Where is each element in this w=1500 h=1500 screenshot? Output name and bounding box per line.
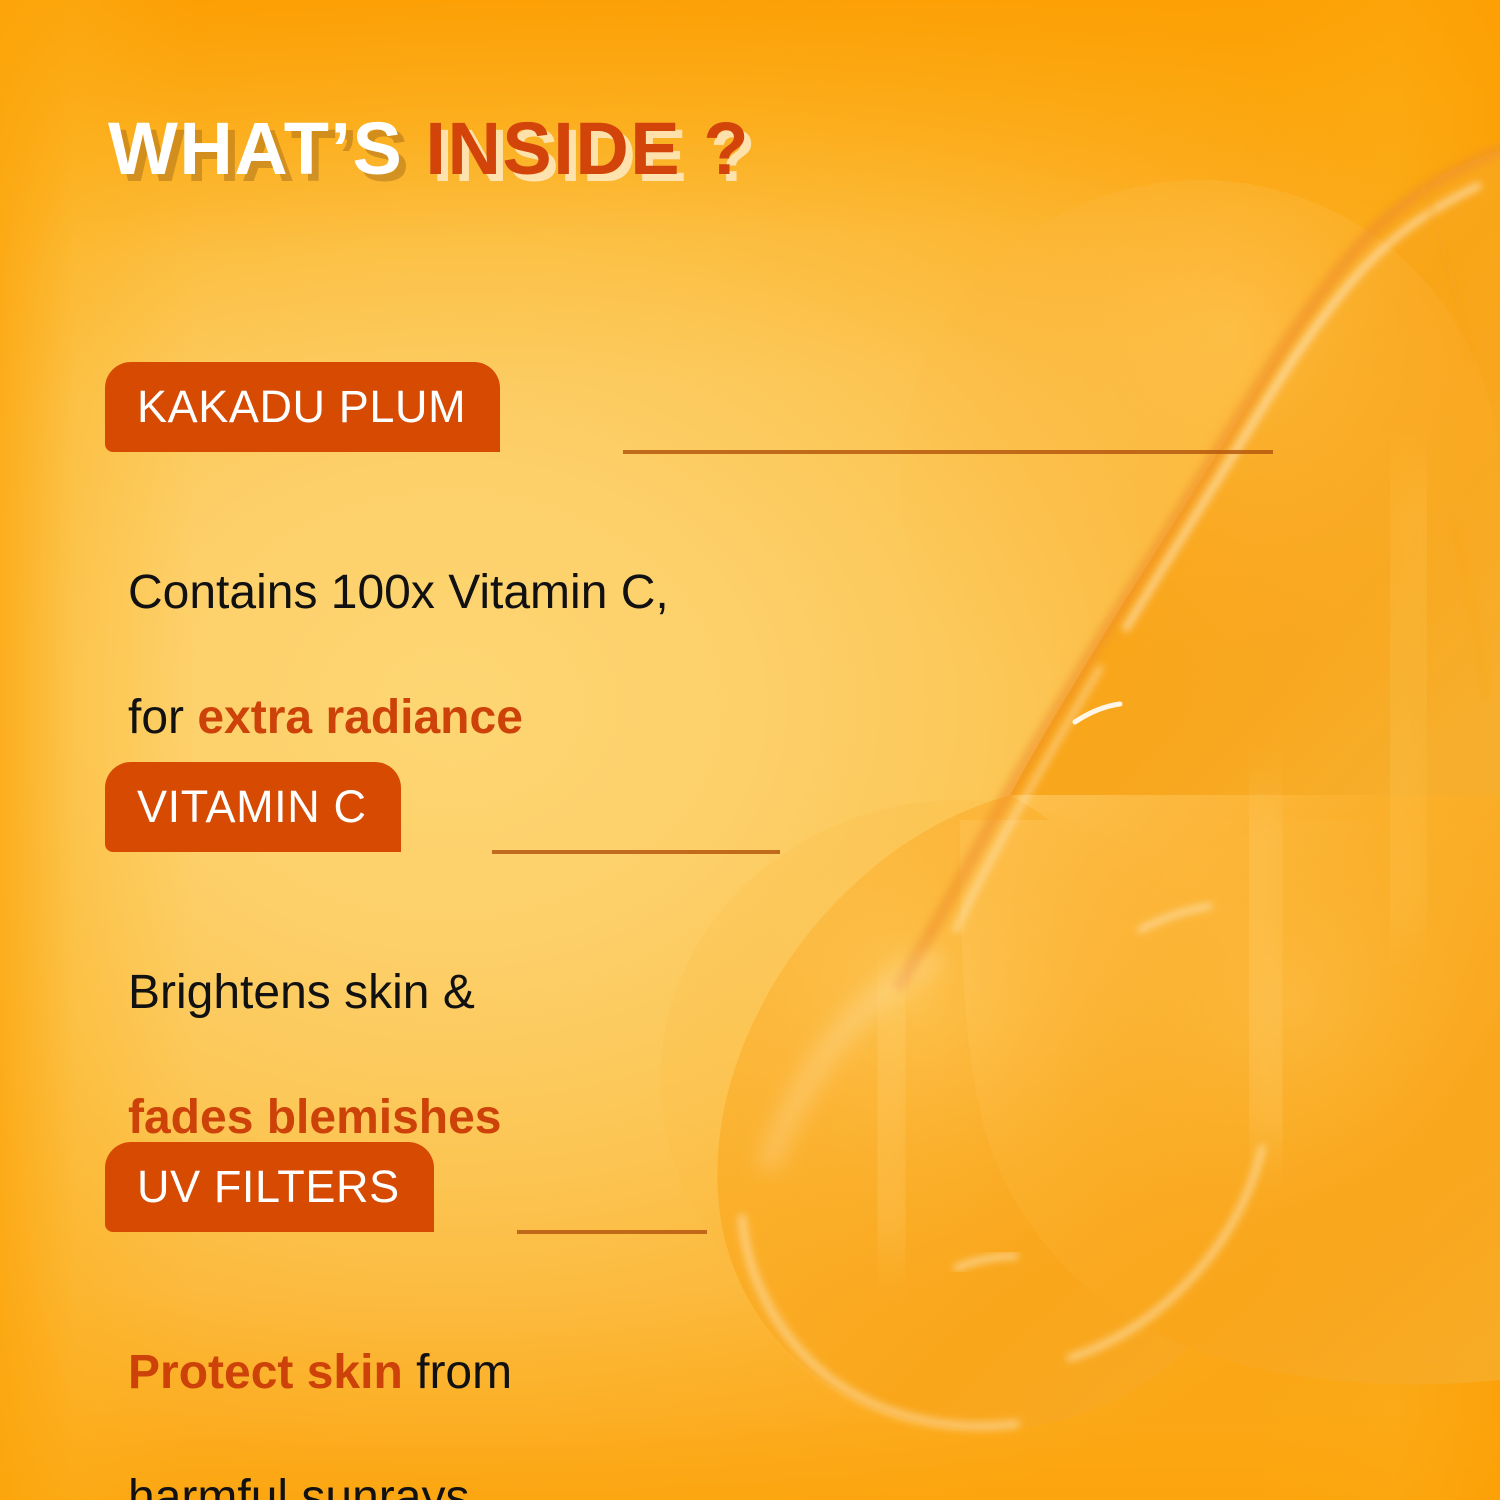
badge-row: VITAMIN C — [0, 762, 1500, 857]
background-right-shade — [0, 0, 1500, 1500]
description-line-2-highlight: fades blemishes — [128, 1091, 502, 1144]
description-line-2-prefix: for — [128, 691, 197, 744]
description-line-1-suffix: from — [403, 1346, 512, 1399]
badge-rule-line — [623, 450, 1273, 454]
poster-canvas: WHAT’S INSIDE ? KAKADU PLUM Contains 100… — [0, 0, 1500, 1500]
description-line-2: harmful sunrays — [128, 1471, 469, 1500]
title-word-accent: INSIDE ? — [425, 107, 749, 190]
ingredient-badge: UV FILTERS — [105, 1142, 434, 1232]
ingredient-block-kakadu-plum: KAKADU PLUM Contains 100x Vitamin C, for… — [0, 362, 1500, 457]
ingredient-badge: VITAMIN C — [105, 762, 401, 852]
badge-row: KAKADU PLUM — [0, 362, 1500, 457]
description-line-1: Contains 100x Vitamin C, — [128, 566, 669, 619]
ingredient-block-uv-filters: UV FILTERS Protect skin from harmful sun… — [0, 1142, 1500, 1237]
title-word-primary: WHAT’S — [108, 107, 403, 190]
ingredient-description: Contains 100x Vitamin C, for extra radia… — [128, 500, 669, 750]
page-title: WHAT’S INSIDE ? — [108, 112, 750, 186]
ingredient-description: Protect skin from harmful sunrays — [128, 1280, 512, 1500]
ingredient-block-vitamin-c: VITAMIN C Brightens skin & fades blemish… — [0, 762, 1500, 857]
ingredient-description: Brightens skin & fades blemishes — [128, 900, 502, 1150]
description-line-1: Brightens skin & — [128, 966, 475, 1019]
badge-rule-line — [517, 1230, 707, 1234]
badge-row: UV FILTERS — [0, 1142, 1500, 1237]
ingredient-badge: KAKADU PLUM — [105, 362, 500, 452]
description-line-1-highlight: Protect skin — [128, 1346, 403, 1399]
badge-rule-line — [492, 850, 780, 854]
description-line-2-highlight: extra radiance — [197, 691, 523, 744]
